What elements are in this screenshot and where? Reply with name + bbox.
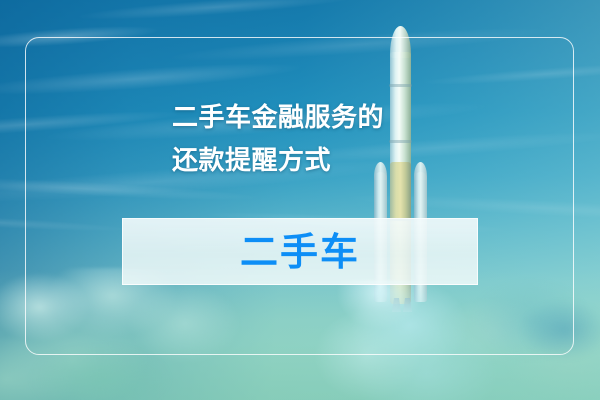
- brand-banner-text: 二手车: [240, 233, 360, 271]
- poster-heading: 二手车金融服务的 还款提醒方式: [172, 97, 492, 183]
- heading-line-1: 二手车金融服务的: [172, 97, 492, 140]
- brand-banner: 二手车: [122, 218, 478, 285]
- heading-line-2: 还款提醒方式: [172, 140, 492, 183]
- poster-canvas: 二手车金融服务的 还款提醒方式 二手车: [0, 0, 600, 400]
- rocket-band-upper: [389, 84, 412, 87]
- smoke-blob-corner: [520, 300, 600, 360]
